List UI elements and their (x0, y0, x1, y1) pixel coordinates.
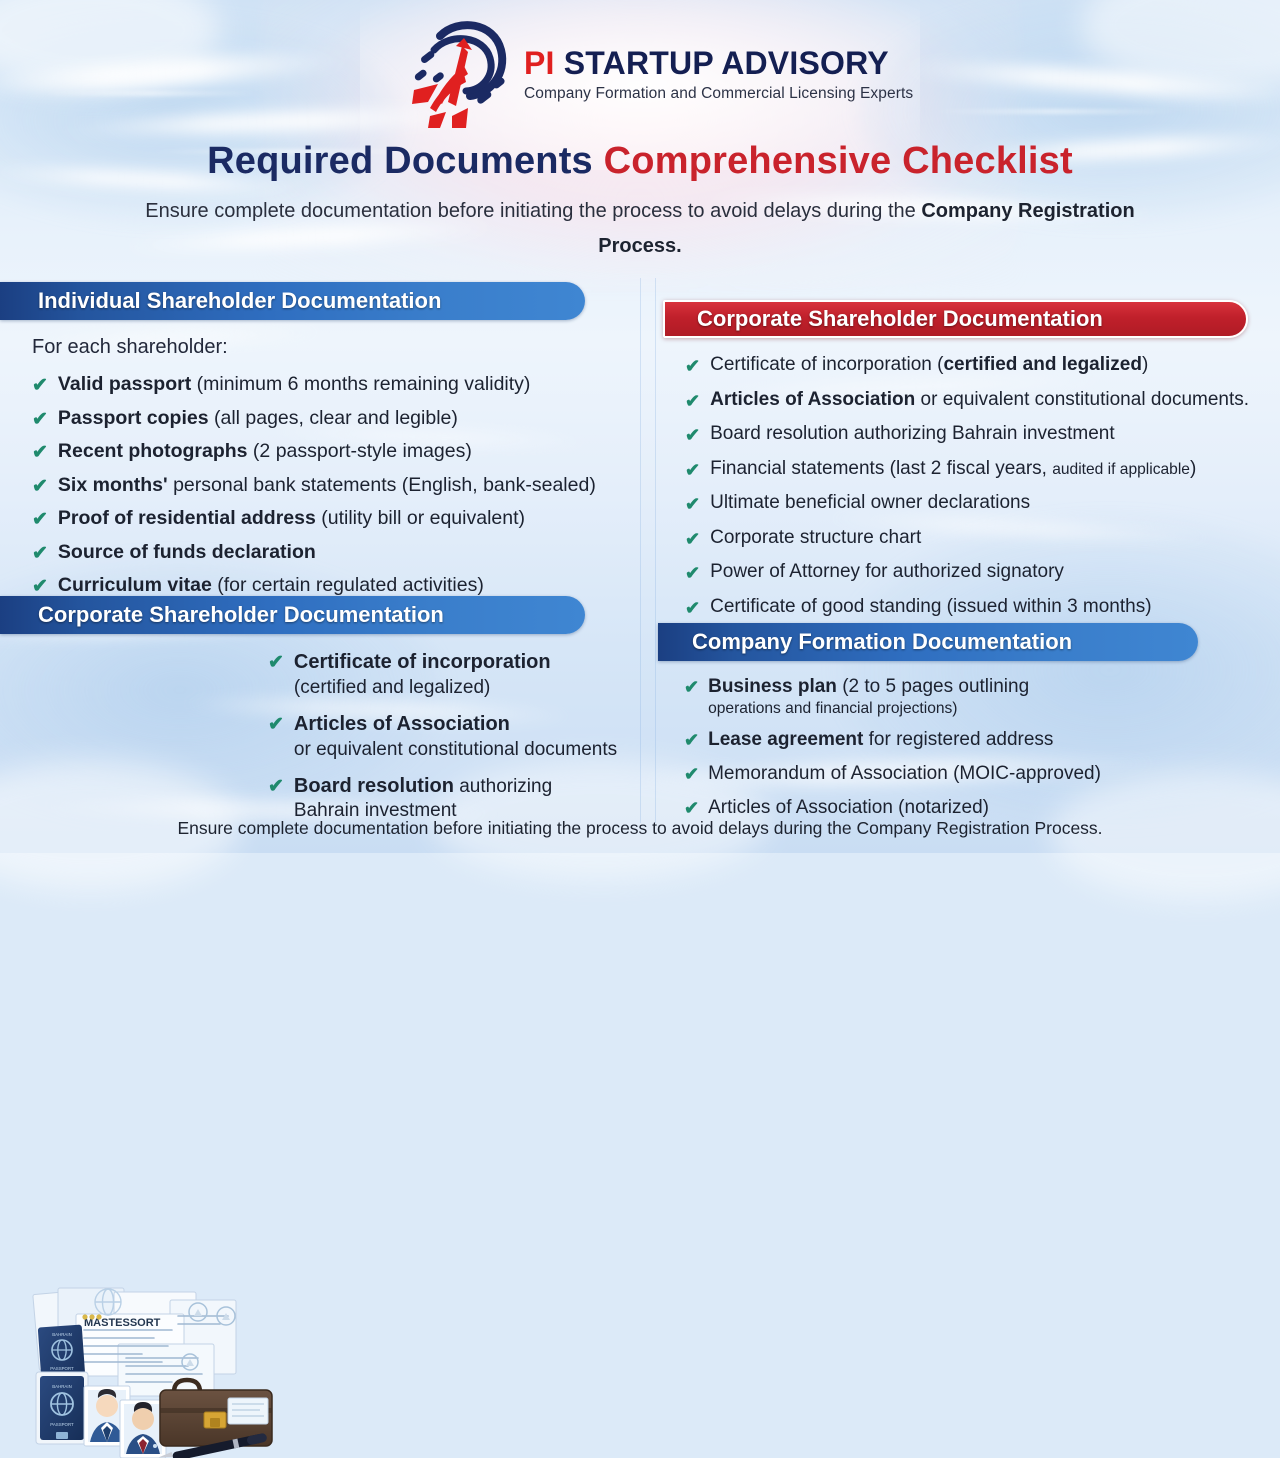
item-bold: Valid passport (58, 373, 191, 395)
item-bold: certified and legalized (943, 354, 1142, 375)
item-rest: (utility bill or equivalent) (316, 507, 525, 529)
documents-passports-briefcase-pen-illustration: MASTESSORT (22, 1286, 286, 1458)
list-item: ✔Board resolution authorizingBahrain inv… (268, 774, 648, 824)
brand-name-accent: PI (524, 45, 555, 81)
brand-logo: PI STARTUP ADVISORY Company Formation an… (406, 16, 913, 128)
item-plain: Memorandum of Association (MOIC-approved… (708, 763, 1101, 784)
panel-heading-company-formation: Company Formation Documentation (658, 623, 1198, 661)
panel-heading-individual: Individual Shareholder Documentation (0, 282, 585, 320)
item-bold: Proof of residential address (58, 507, 316, 529)
item-bold: Certificate of incorporation (294, 651, 551, 673)
panel-company-formation: Company Formation Documentation ✔Busines… (658, 623, 1280, 829)
item-small: audited if applicable (1052, 461, 1190, 478)
item-bold: Curriculum vitae (58, 574, 212, 596)
check-icon: ✔ (268, 774, 284, 796)
check-icon: ✔ (685, 492, 700, 513)
check-icon: ✔ (684, 728, 699, 749)
check-icon: ✔ (32, 474, 48, 496)
item-rest: (2 to 5 pages outlining (837, 676, 1029, 697)
subtitle-text: Ensure complete documentation before ini… (145, 200, 921, 222)
item-rest: or equivalent constitutional documents. (915, 389, 1249, 410)
panel-corporate-shareholder-blue: Corporate Shareholder Documentation (0, 596, 660, 836)
item-rest: for registered address (863, 729, 1053, 750)
item-plain: Articles of Association (notarized) (708, 797, 989, 818)
item-bold: Lease agreement (708, 729, 863, 750)
rocket-swoosh-logo-icon (406, 16, 510, 128)
individual-lead-text: For each shareholder: (32, 336, 640, 359)
check-icon: ✔ (268, 650, 284, 672)
check-icon: ✔ (685, 596, 700, 617)
list-item: ✔Certificate of good standing (issued wi… (685, 596, 1263, 618)
item-bold: Recent photographs (58, 440, 248, 462)
item-bold: Source of funds declaration (58, 541, 316, 563)
list-item: ✔Memorandum of Association (MOIC-approve… (684, 762, 1114, 786)
check-icon: ✔ (32, 440, 48, 462)
individual-checklist: ✔Valid passport (minimum 6 months remain… (32, 373, 640, 597)
item-rest: personal bank statements (English, bank-… (168, 474, 596, 496)
svg-text:PASSPORT: PASSPORT (50, 1366, 74, 1371)
check-icon: ✔ (685, 354, 700, 375)
item-rest: authorizing (454, 776, 552, 797)
list-item: ✔Passport copies (all pages, clear and l… (32, 407, 640, 430)
item-bold: Business plan (708, 676, 837, 697)
item-tail: ) (1142, 354, 1148, 375)
check-icon: ✔ (685, 458, 700, 479)
list-item: ✔Financial statements (last 2 fiscal yea… (685, 458, 1263, 480)
check-icon: ✔ (685, 389, 700, 410)
check-icon: ✔ (684, 762, 699, 783)
item-plain: Board resolution authorizing Bahrain inv… (710, 423, 1115, 444)
check-icon: ✔ (684, 675, 699, 696)
panel-individual-shareholder: Individual Shareholder Documentation For… (0, 282, 640, 608)
panel-corporate-shareholder-red: Corporate Shareholder Documentation ✔Cer… (663, 300, 1263, 630)
item-bold: Board resolution (294, 775, 454, 797)
check-icon: ✔ (685, 423, 700, 444)
page-title-red: Comprehensive Checklist (604, 140, 1073, 182)
footer-note: Ensure complete documentation before ini… (0, 818, 1280, 839)
item-rest: (all pages, clear and legible) (209, 407, 458, 429)
list-item: ✔Curriculum vitae (for certain regulated… (32, 574, 640, 597)
panel-heading-label: Individual Shareholder Documentation (38, 288, 441, 314)
check-icon: ✔ (32, 507, 48, 529)
check-icon: ✔ (32, 407, 48, 429)
list-item: ✔Power of Attorney for authorized signat… (685, 561, 1263, 583)
list-item: ✔Articles of Association (notarized) (684, 796, 1114, 820)
svg-text:BAHRAIN: BAHRAIN (52, 1384, 72, 1389)
page-title: Required Documents Comprehensive Checkli… (0, 140, 1280, 183)
item-plain: Power of Attorney for authorized signato… (710, 561, 1064, 582)
check-icon: ✔ (685, 527, 700, 548)
list-item: ✔Six months' personal bank statements (E… (32, 474, 640, 497)
item-plain: Corporate structure chart (710, 527, 921, 548)
list-item: ✔Articles of Associationor equivalent co… (268, 712, 648, 762)
item-sub: operations and financial projections) (708, 699, 1029, 718)
list-item: ✔Lease agreement for registered address (684, 728, 1114, 752)
list-item: ✔Ultimate beneficial owner declarations (685, 492, 1263, 514)
brand-name-rest: STARTUP ADVISORY (555, 45, 889, 81)
corporate-red-checklist: ✔Certificate of incorporation (certified… (685, 354, 1263, 618)
item-plain: Ultimate beneficial owner declarations (710, 492, 1030, 513)
item-plain: Certificate of incorporation ( (710, 354, 943, 375)
item-tail: ) (1190, 458, 1196, 479)
item-rest: (for certain regulated activities) (212, 574, 484, 596)
brand-tagline: Company Formation and Commercial Licensi… (524, 85, 913, 103)
company-formation-checklist: ✔Business plan (2 to 5 pages outliningop… (684, 675, 1114, 819)
svg-text:MASTESSORT: MASTESSORT (84, 1317, 161, 1329)
brand-name: PI STARTUP ADVISORY (524, 47, 913, 81)
panel-heading-label: Corporate Shareholder Documentation (697, 306, 1103, 332)
item-sub: (certified and legalized) (294, 676, 551, 700)
item-plain: Certificate of good standing (issued wit… (710, 596, 1151, 617)
svg-text:BAHRAIN: BAHRAIN (52, 1332, 72, 1337)
item-bold: Six months' (58, 474, 168, 496)
list-item: ✔Proof of residential address (utility b… (32, 507, 640, 530)
check-icon: ✔ (32, 541, 48, 563)
list-item: ✔Corporate structure chart (685, 527, 1263, 549)
check-icon: ✔ (685, 561, 700, 582)
list-item: ✔Certificate of incorporation (certified… (685, 354, 1263, 376)
corporate-blue-checklist: ✔Certificate of incorporation(certified … (268, 650, 648, 836)
panel-heading-corporate-blue: Corporate Shareholder Documentation (0, 596, 585, 634)
check-icon: ✔ (684, 796, 699, 817)
item-rest: (2 passport-style images) (248, 440, 472, 462)
list-item: ✔Board resolution authorizing Bahrain in… (685, 423, 1263, 445)
item-bold: Passport copies (58, 407, 209, 429)
item-sub: or equivalent constitutional documents (294, 738, 617, 762)
list-item: ✔Valid passport (minimum 6 months remain… (32, 373, 640, 396)
list-item: ✔Certificate of incorporation(certified … (268, 650, 648, 700)
item-bold: Articles of Association (294, 713, 510, 735)
check-icon: ✔ (32, 373, 48, 395)
page-subtitle: Ensure complete documentation before ini… (140, 194, 1140, 264)
panel-heading-corporate-red: Corporate Shareholder Documentation (663, 300, 1248, 338)
item-rest: (minimum 6 months remaining validity) (191, 373, 530, 395)
list-item: ✔Source of funds declaration (32, 541, 640, 564)
svg-text:PASSPORT: PASSPORT (50, 1422, 74, 1427)
list-item: ✔Recent photographs (2 passport-style im… (32, 440, 640, 463)
panel-heading-label: Corporate Shareholder Documentation (38, 602, 444, 628)
item-bold: Articles of Association (710, 389, 915, 410)
page-title-navy: Required Documents (207, 140, 604, 182)
check-icon: ✔ (32, 574, 48, 596)
item-plain: Financial statements (last 2 fiscal year… (710, 458, 1052, 479)
panel-heading-label: Company Formation Documentation (692, 629, 1072, 655)
check-icon: ✔ (268, 712, 284, 734)
list-item: ✔Business plan (2 to 5 pages outliningop… (684, 675, 1114, 718)
list-item: ✔Articles of Association or equivalent c… (685, 389, 1263, 411)
